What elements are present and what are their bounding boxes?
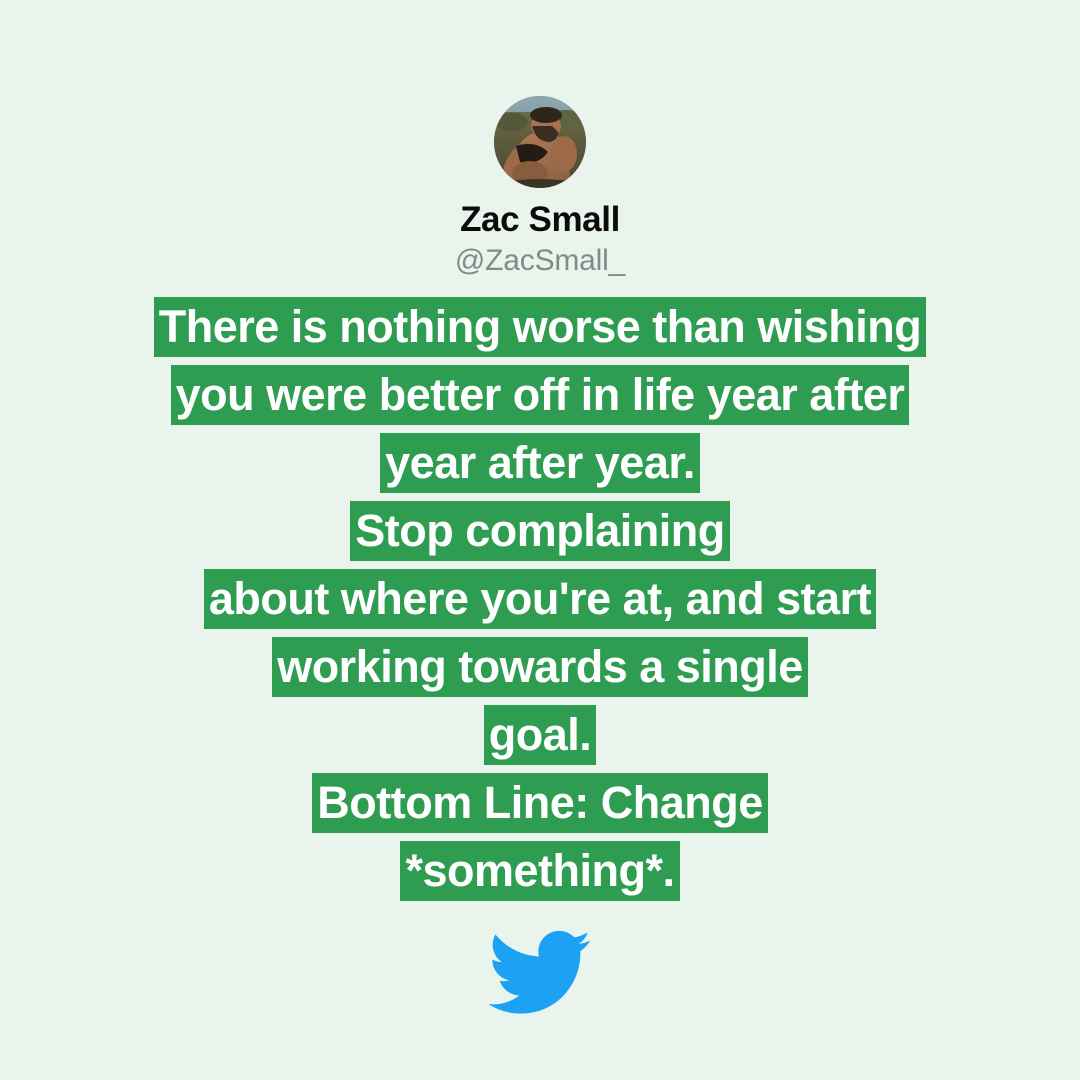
- quote-paragraph: Bottom Line: Change *something*.: [0, 774, 1080, 910]
- quote-line: year after year.: [0, 434, 1080, 502]
- quote-line: working towards a single: [0, 638, 1080, 706]
- quote-line-text: goal.: [484, 705, 597, 765]
- quote-line-text: about where you're at, and start: [204, 569, 876, 629]
- avatar[interactable]: [494, 96, 586, 188]
- quote-line: you were better off in life year after: [0, 366, 1080, 434]
- quote-paragraph: Stop complaining about where you're at, …: [0, 502, 1080, 774]
- quote-line: There is nothing worse than wishing: [0, 298, 1080, 366]
- quote-line-text: working towards a single: [272, 637, 808, 697]
- quote-line: *something*.: [0, 842, 1080, 910]
- profile-block: Zac Small @ZacSmall_: [455, 96, 625, 276]
- quote-line: Bottom Line: Change: [0, 774, 1080, 842]
- quote-line: Stop complaining: [0, 502, 1080, 570]
- quote-line-text: year after year.: [380, 433, 700, 493]
- quote-line: goal.: [0, 706, 1080, 774]
- tweet-quote-card: Zac Small @ZacSmall_ There is nothing wo…: [0, 0, 1080, 1080]
- quote-line-text: *something*.: [400, 841, 679, 901]
- quote-line-text: Bottom Line: Change: [312, 773, 767, 833]
- quote-paragraph: There is nothing worse than wishing you …: [0, 298, 1080, 502]
- display-name: Zac Small: [460, 202, 620, 239]
- quote-body: There is nothing worse than wishing you …: [0, 298, 1080, 910]
- quote-line-text: There is nothing worse than wishing: [154, 297, 927, 357]
- quote-line: about where you're at, and start: [0, 570, 1080, 638]
- twitter-bird-icon: [489, 928, 591, 1016]
- handle: @ZacSmall_: [455, 245, 625, 277]
- quote-line-text: you were better off in life year after: [171, 365, 910, 425]
- quote-line-text: Stop complaining: [350, 501, 730, 561]
